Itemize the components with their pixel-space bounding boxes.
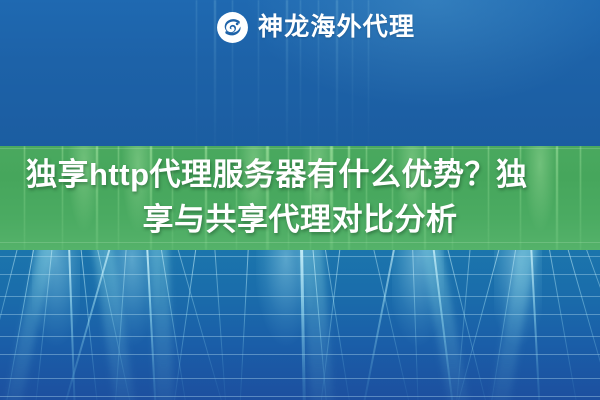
light-beam — [80, 250, 99, 400]
light-beam — [530, 250, 541, 400]
banner-image: 神龙海外代理 独享http代理服务器有什么优势？独 享与共享代理对比分析 — [0, 0, 600, 400]
light-beam — [584, 250, 600, 400]
light-beam — [239, 250, 249, 400]
light-ray — [196, 0, 197, 146]
swirl-dragon-logo-icon — [216, 11, 249, 44]
light-beam — [214, 250, 227, 400]
light-beam — [300, 250, 306, 400]
headline-line-1: 独享http代理服务器有什么优势？独 — [0, 152, 600, 197]
light-beam — [146, 250, 157, 400]
brand-logo: 神龙海外代理 — [216, 11, 415, 44]
light-beam — [412, 250, 419, 400]
brand-name: 神龙海外代理 — [258, 11, 415, 44]
light-beam — [34, 250, 53, 400]
bottom-blue-background — [0, 250, 600, 400]
headline: 独享http代理服务器有什么优势？独 享与共享代理对比分析 — [0, 152, 600, 242]
green-scan-line — [0, 148, 600, 149]
green-scan-line — [0, 242, 600, 243]
light-beam — [324, 250, 352, 400]
light-beam — [4, 250, 35, 400]
bottom-light-beams — [0, 250, 600, 400]
light-beam — [432, 250, 455, 400]
light-beam — [312, 250, 328, 400]
headline-line-2: 享与共享代理对比分析 — [0, 197, 600, 242]
light-beam — [176, 250, 226, 400]
